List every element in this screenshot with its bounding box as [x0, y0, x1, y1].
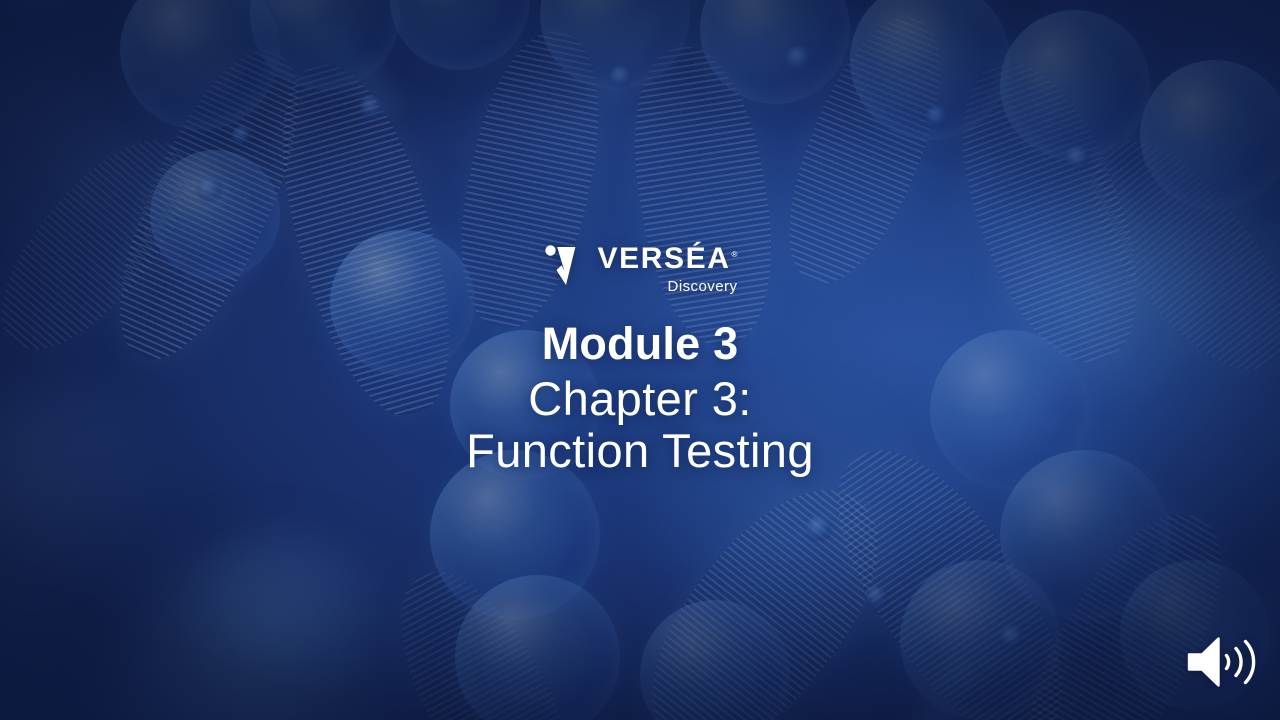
- versea-wordmark: VERSÉA®: [598, 244, 738, 274]
- slide-content: VERSÉA® Discovery Module 3 Chapter 3: Fu…: [0, 0, 1280, 720]
- registered-trademark-symbol: ®: [732, 250, 738, 259]
- slide-title-block: Module 3 Chapter 3: Function Testing: [466, 320, 814, 476]
- discovery-subwordmark: Discovery: [668, 279, 738, 294]
- versea-checkmark-icon: [543, 244, 589, 289]
- volume-speaker-button[interactable]: [1183, 631, 1263, 693]
- module-title: Module 3: [466, 320, 814, 368]
- topic-title: Function Testing: [466, 426, 814, 476]
- versea-discovery-logo: VERSÉA® Discovery: [543, 244, 738, 294]
- presentation-slide: VERSÉA® Discovery Module 3 Chapter 3: Fu…: [0, 0, 1280, 720]
- speaker-volume-icon: [1185, 633, 1261, 691]
- chapter-title: Chapter 3:: [466, 374, 814, 424]
- versea-wordmark-group: VERSÉA® Discovery: [598, 244, 738, 294]
